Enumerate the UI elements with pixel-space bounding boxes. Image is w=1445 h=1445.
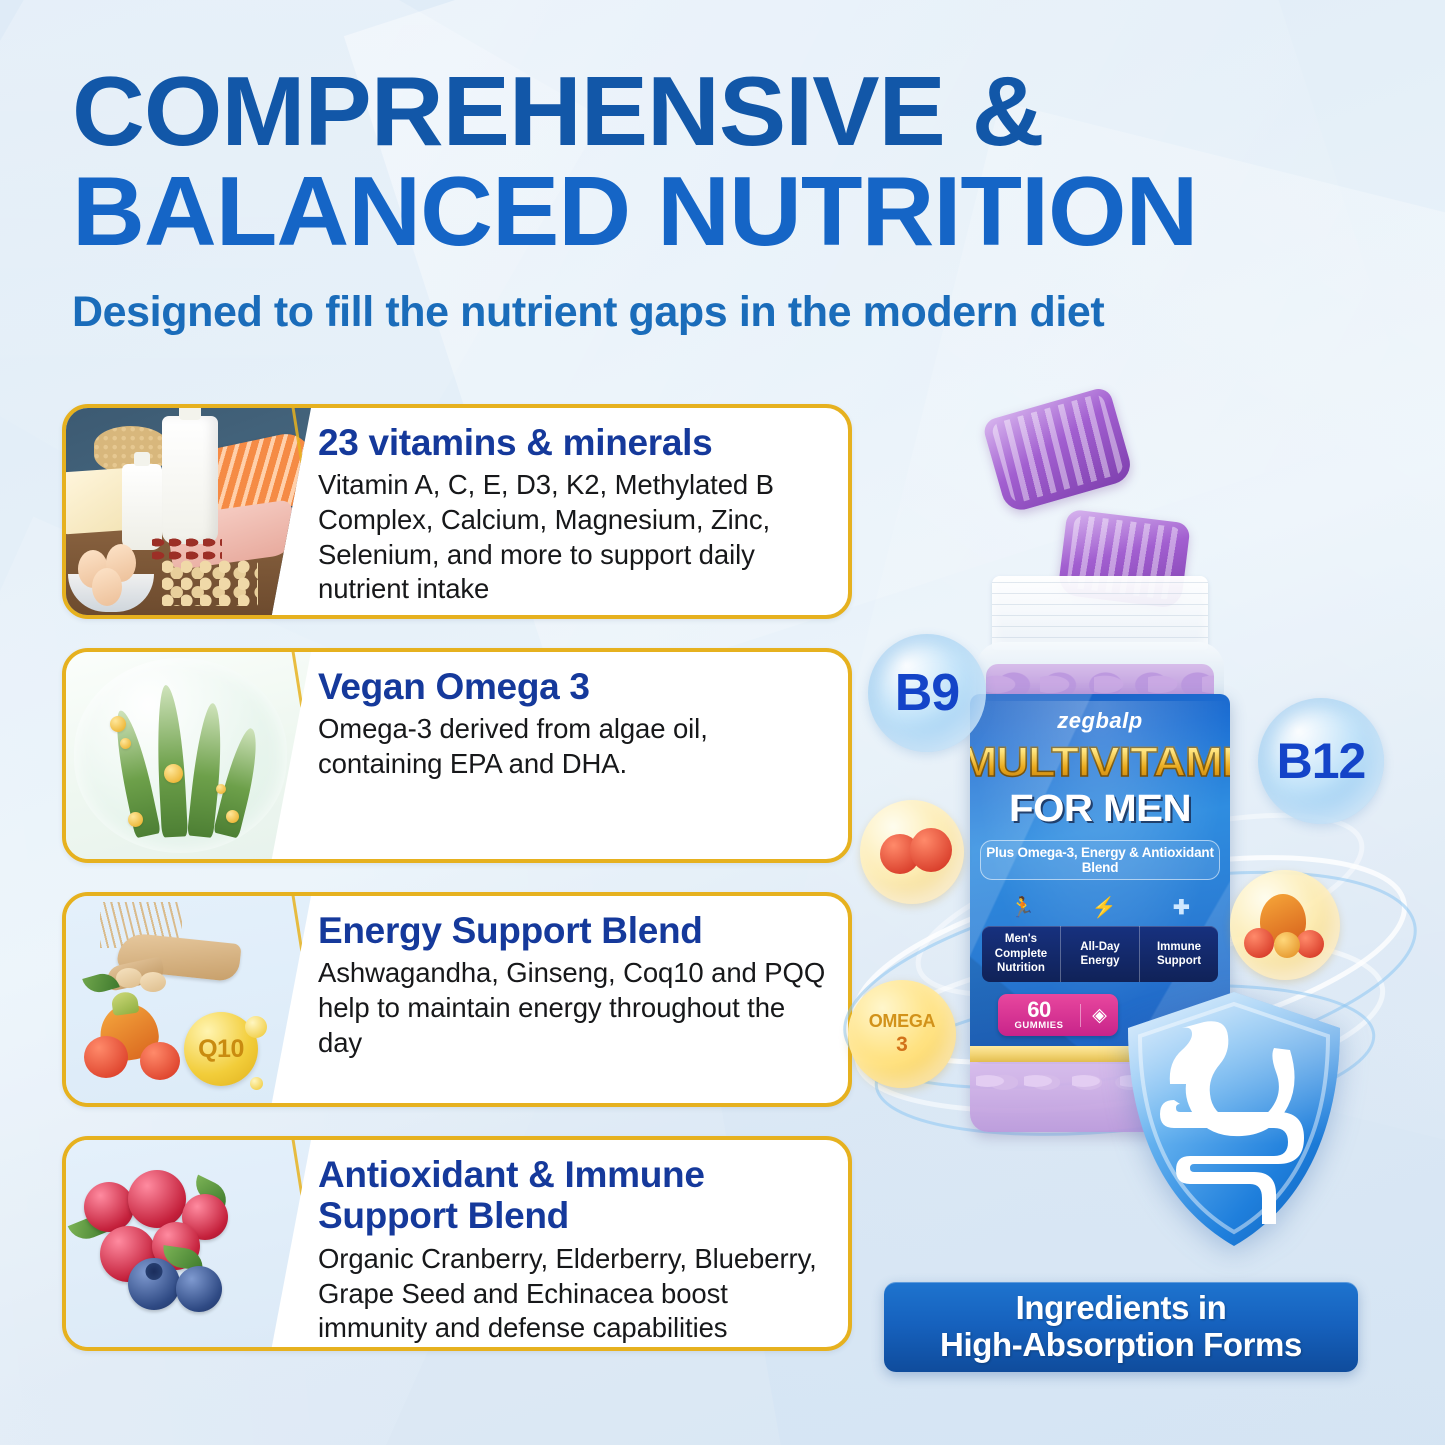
benefit-item: All-Day Energy — [1060, 926, 1139, 982]
bubble-b9: B9 — [868, 634, 986, 752]
brand-name: zegbalp — [970, 708, 1230, 734]
card-image-berries — [66, 1140, 311, 1347]
card-title: Antioxidant & Immune Support Blend — [318, 1154, 830, 1237]
benefit-icon-row: 🏃 ⚡ ✚ — [982, 890, 1218, 924]
bubble-goldenberry — [1230, 870, 1340, 980]
bubble-lycopene — [860, 800, 964, 904]
bubble-omega3: OMEGA 3 — [848, 980, 956, 1088]
digestive-shield-icon — [1118, 988, 1350, 1250]
feature-card-antioxidant: Antioxidant & Immune Support Blend Organ… — [62, 1136, 852, 1351]
card-title: Vegan Omega 3 — [318, 666, 830, 707]
omega-label: OMEGA — [869, 1011, 936, 1032]
shield-plus-icon: ✚ — [1173, 895, 1190, 920]
cta-banner[interactable]: Ingredients in High-Absorption Forms — [884, 1282, 1358, 1372]
page-subtitle: Designed to fill the nutrient gaps in th… — [72, 288, 1272, 337]
card-title: Energy Support Blend — [318, 910, 830, 951]
bubble-b9-label: B9 — [895, 663, 959, 723]
gummy-top — [981, 386, 1134, 515]
raspberry-icon: ◈ — [1080, 1004, 1118, 1027]
feature-card-omega3: Vegan Omega 3 Omega-3 derived from algae… — [62, 648, 852, 863]
benefit-item: Immune Support — [1139, 926, 1218, 982]
count-unit: GUMMIES — [998, 1021, 1080, 1031]
gummy-count-badge: 60 GUMMIES ◈ — [998, 994, 1118, 1036]
card-description: Omega-3 derived from algae oil, containi… — [318, 712, 830, 781]
card-image-ginseng-q10: Q10 — [66, 896, 311, 1103]
benefit-strip: Men's Complete Nutrition All-Day Energy … — [982, 926, 1218, 982]
header: COMPREHENSIVE & BALANCED NUTRITION Desig… — [72, 62, 1272, 337]
bubble-b12-label: B12 — [1277, 732, 1366, 790]
page-title: COMPREHENSIVE & BALANCED NUTRITION — [72, 62, 1308, 262]
q10-capsule-icon: Q10 — [184, 1012, 258, 1086]
cta-line-1: Ingredients in — [1016, 1289, 1227, 1326]
product-tagline: Plus Omega-3, Energy & Antioxidant Blend — [980, 840, 1220, 880]
headline-line-1: COMPREHENSIVE & — [72, 56, 1044, 166]
headline-line-2: BALANCED NUTRITION — [72, 162, 1308, 262]
feature-card-vitamins: 23 vitamins & minerals Vitamin A, C, E, … — [62, 404, 852, 619]
card-description: Organic Cranberry, Elderberry, Blueberry… — [318, 1242, 830, 1346]
bottle-cap — [992, 576, 1208, 650]
card-title: 23 vitamins & minerals — [318, 422, 830, 463]
q10-label: Q10 — [198, 1035, 244, 1064]
count-number: 60 — [998, 999, 1080, 1021]
product-visual: zegbalp MULTIVITAMIN FOR MEN Plus Omega-… — [840, 380, 1420, 1300]
bubble-b12: B12 — [1258, 698, 1384, 824]
card-description: Ashwagandha, Ginseng, Coq10 and PQQ help… — [318, 956, 830, 1060]
benefit-item: Men's Complete Nutrition — [982, 926, 1060, 982]
runner-icon: 🏃 — [1010, 895, 1035, 920]
product-name: MULTIVITAMIN — [970, 738, 1230, 786]
bottle-shoulder — [976, 642, 1224, 698]
card-image-food-spread — [66, 408, 311, 615]
card-description: Vitamin A, C, E, D3, K2, Methylated B Co… — [318, 468, 830, 607]
infographic-page: COMPREHENSIVE & BALANCED NUTRITION Desig… — [0, 0, 1445, 1445]
omega-number: 3 — [896, 1033, 908, 1057]
cta-line-2: High-Absorption Forms — [940, 1326, 1302, 1363]
energy-bolt-icon: ⚡ — [1092, 895, 1117, 920]
feature-card-energy: Q10 Energy Support Blend Ashwagandha, Gi… — [62, 892, 852, 1107]
card-image-algae — [66, 652, 311, 859]
product-audience: FOR MEN — [970, 788, 1230, 831]
feature-card-list: 23 vitamins & minerals Vitamin A, C, E, … — [62, 404, 852, 1380]
